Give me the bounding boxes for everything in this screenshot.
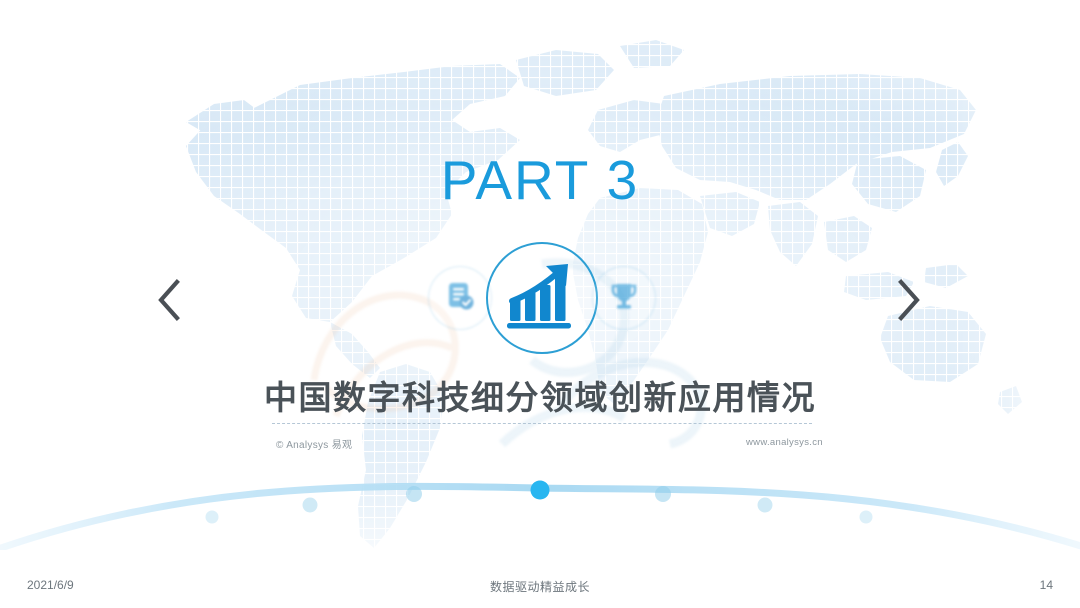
progress-dot-active[interactable] bbox=[531, 481, 550, 500]
footer-page-number: 14 bbox=[1040, 578, 1053, 592]
part-label: PART 3 bbox=[0, 148, 1080, 212]
page-title: 中国数字科技细分领域创新应用情况 bbox=[0, 371, 1080, 419]
bar-chart-growth-icon bbox=[504, 261, 580, 336]
progress-dot[interactable] bbox=[206, 511, 219, 524]
website-url: www.analysys.cn bbox=[746, 437, 823, 448]
icon-cluster bbox=[0, 240, 1080, 360]
progress-dot[interactable] bbox=[303, 498, 318, 513]
footer-tagline: 数据驱动精益成长 bbox=[0, 578, 1080, 595]
progress-dot[interactable] bbox=[406, 486, 422, 502]
copyright-credit: © Analysys 易观 bbox=[276, 436, 352, 451]
trophy-badge bbox=[592, 266, 656, 330]
progress-dot[interactable] bbox=[860, 511, 873, 524]
progress-arc bbox=[0, 455, 1080, 550]
document-check-icon bbox=[443, 279, 477, 318]
divider bbox=[272, 423, 812, 424]
progress-dot[interactable] bbox=[655, 486, 671, 502]
bar-chart-growth-badge bbox=[486, 242, 598, 354]
document-check-badge bbox=[428, 266, 492, 330]
slide-root: PART 3 bbox=[0, 0, 1080, 608]
trophy-icon bbox=[608, 280, 640, 317]
progress-dot[interactable] bbox=[758, 498, 773, 513]
